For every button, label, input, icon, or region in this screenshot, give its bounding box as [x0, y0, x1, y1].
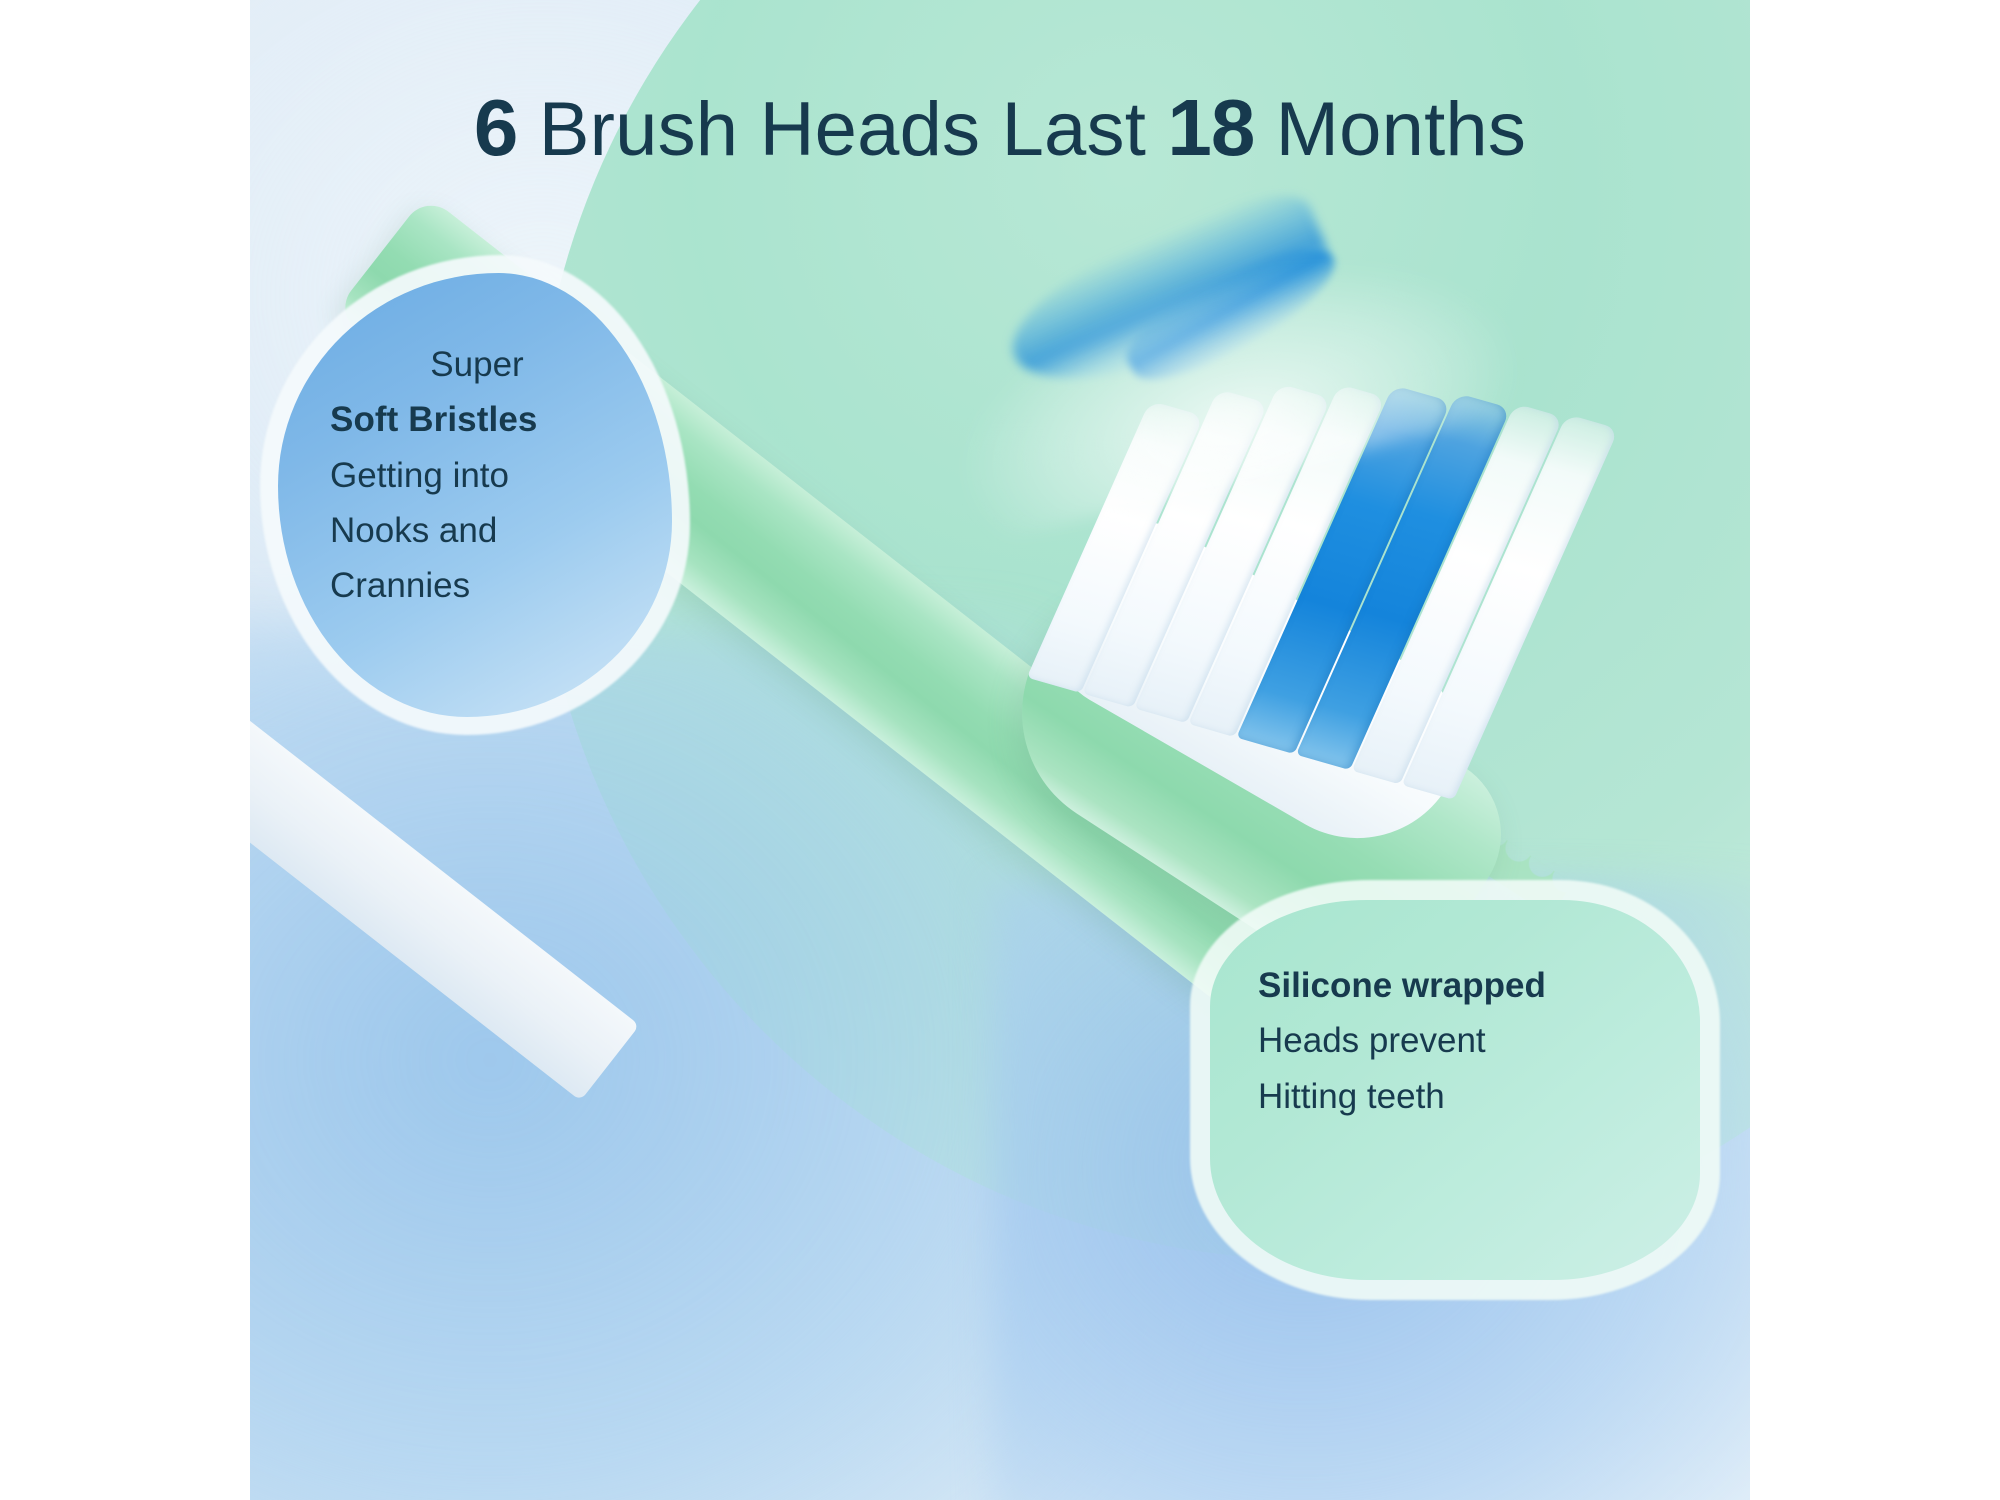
callout-line-crannies: Crannies: [330, 558, 670, 613]
headline-text-brush-heads-last: Brush Heads Last: [539, 87, 1146, 172]
callout-line-soft-bristles: Soft Bristles: [330, 392, 670, 447]
callout-line-hitting-teeth: Hitting teeth: [1258, 1069, 1688, 1124]
callout-text-block: Silicone wrapped Heads prevent Hitting t…: [1258, 958, 1688, 1124]
soft-bristles-callout: Super Soft Bristles Getting into Nooks a…: [260, 255, 690, 735]
callout-line-nooks-and: Nooks and: [330, 503, 670, 558]
headline-number-6: 6: [474, 83, 518, 172]
callout-line-super: Super: [330, 337, 670, 392]
callout-text-block: Super Soft Bristles Getting into Nooks a…: [330, 337, 670, 613]
headline-number-18: 18: [1167, 83, 1254, 172]
callout-line-getting-into: Getting into: [330, 448, 670, 503]
product-marketing-image: 6 Brush Heads Last 18 Months Super Soft …: [0, 0, 2000, 1500]
silicone-wrapped-callout: Silicone wrapped Heads prevent Hitting t…: [1190, 880, 1720, 1300]
callout-line-heads-prevent: Heads prevent: [1258, 1013, 1688, 1068]
headline-text-months: Months: [1276, 87, 1526, 172]
callout-line-silicone-wrapped: Silicone wrapped: [1258, 958, 1688, 1013]
photo-panel: 6 Brush Heads Last 18 Months Super Soft …: [250, 0, 1750, 1500]
page-title: 6 Brush Heads Last 18 Months: [250, 88, 1750, 168]
